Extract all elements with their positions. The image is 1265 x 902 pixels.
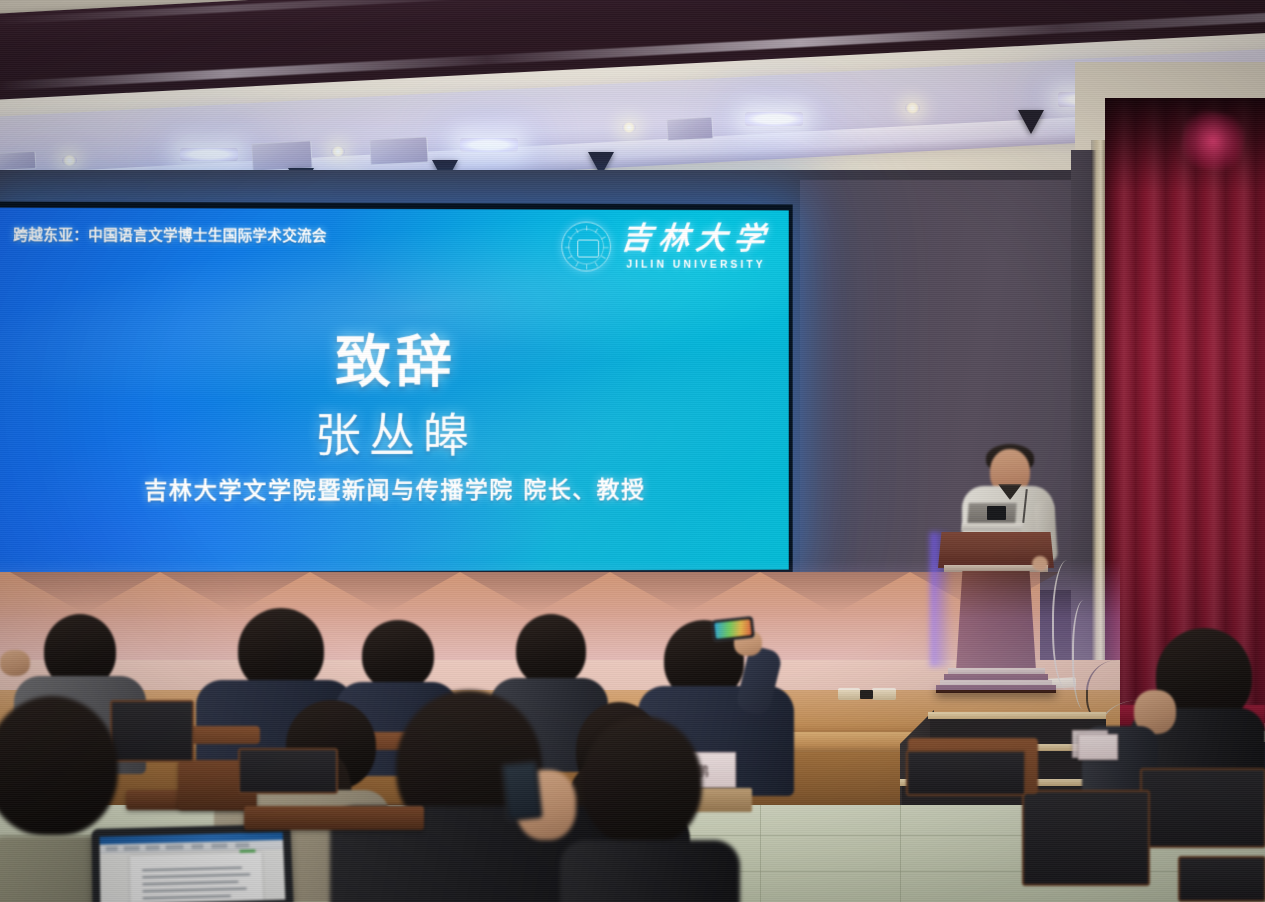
laptop-document-page [130,852,263,902]
university-logo-text: 吉林大学 JILIN UNIVERSITY [621,223,771,270]
ceiling-vent-panel-2 [251,140,312,171]
ceiling-speaker-5 [1018,110,1044,134]
ceiling-vent-panel-4 [666,117,713,141]
projection-screen: 跨越东亚：中国语言文学博士生国际学术交流会 吉林大学 JILIN UNIVERS… [0,208,789,573]
lectern-laptop-base [961,523,1022,531]
university-logo: 吉林大学 JILIN UNIVERSITY [561,222,771,272]
chair-right-3 [1178,856,1265,902]
chair-right-2 [1022,790,1150,886]
floor-tile-line-3 [760,805,761,902]
presenter-hand [1032,556,1048,571]
ceiling-light-panel-2 [460,138,518,152]
laptop-screen [100,832,286,902]
ceiling-vent-panel-3 [369,137,428,166]
slide-header-banner: 跨越东亚：中国语言文学博士生国际学术交流会 [13,224,326,246]
slide-speaker-name: 张丛皞 [0,399,789,466]
lectern-base-trim-4 [936,685,1056,693]
stage-object-dark [860,690,873,699]
slide-affiliation: 吉林大学文学院暨新闻与传播学院 院长、教授 [0,470,789,506]
bench-front-1 [244,806,424,830]
front-smartphone-screen [504,764,539,819]
floor-tile-line-4 [900,805,901,902]
step-nose-1 [928,712,1106,719]
ceiling-downlight-3 [622,122,636,133]
ceiling-downlight-2 [331,146,345,157]
curtain-highlight [1178,108,1247,174]
projection-screen-frame: 跨越东亚：中国语言文学博士生国际学术交流会 吉林大学 JILIN UNIVERS… [0,202,793,578]
smartphone-screen [714,619,751,639]
stage-object-2 [872,688,896,700]
beam-sheen-top [0,0,1265,25]
front-smartphone [501,760,543,821]
stage-object-1 [838,688,860,700]
lectern-body [956,571,1036,671]
ceiling-light-panel-1 [180,148,238,161]
seal-ticks [562,223,610,271]
chair-mid [238,748,338,794]
front-attendee-head-right [582,716,702,846]
conference-hall-photo: 跨越东亚：中国语言文学博士生国际学术交流会 吉林大学 JILIN UNIVERS… [0,0,1265,902]
ceiling-light-panel-3 [745,112,803,126]
ceiling-downlight-4 [905,102,920,114]
right-desk-nameplate [1078,734,1118,760]
ceiling-vent-panel [0,151,36,171]
lectern-laptop-screen [987,506,1006,520]
slide-title: 致辞 [0,316,789,398]
attendee-hand-a [0,650,30,676]
front-attendee-torso-right [560,840,740,902]
university-seal-icon [561,222,611,272]
chair-right-4 [906,750,1026,796]
chair-right-1 [1140,768,1265,848]
university-name-en: JILIN UNIVERSITY [626,258,765,270]
attendee-laptop [92,824,294,902]
smartphone-camera [711,616,755,642]
attendee-head-d [516,614,586,686]
ceiling-downlight-1 [62,155,77,166]
university-name-cn: 吉林大学 [619,223,772,254]
attendee-head-c [362,620,434,690]
stage-curtain [1105,98,1265,723]
chair-back-left [110,700,194,762]
